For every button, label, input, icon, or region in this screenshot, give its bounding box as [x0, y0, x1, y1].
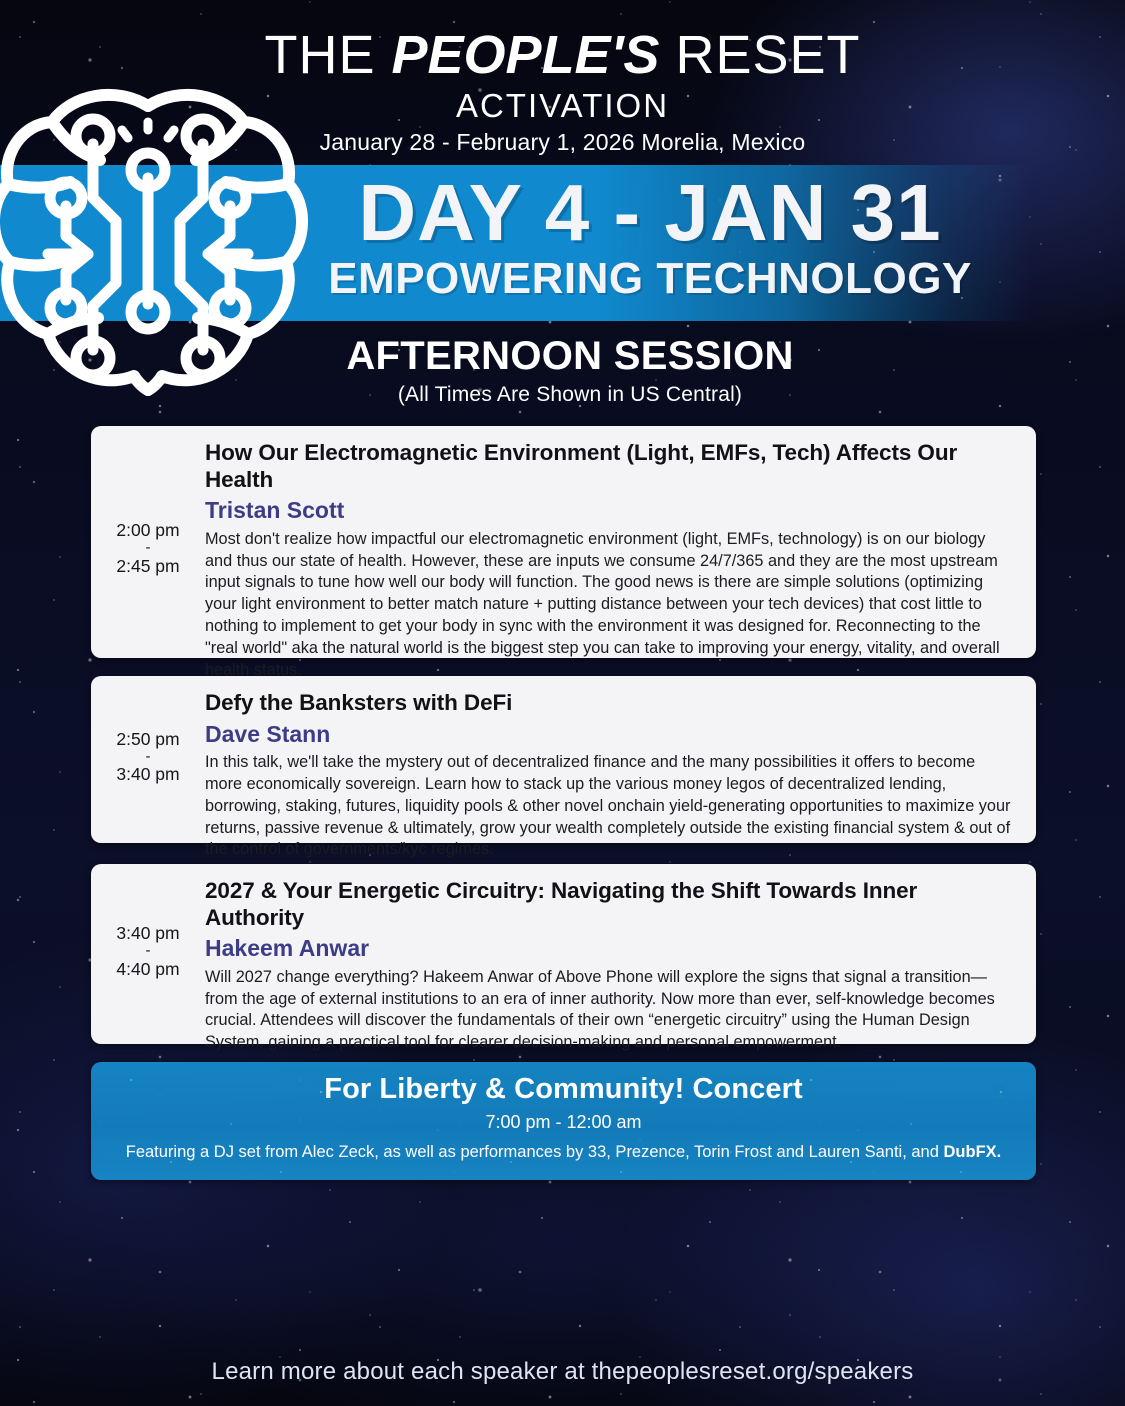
brand-title-suffix: RESET — [659, 25, 860, 85]
session-title-text: How Our Electromagnetic Environment (Lig… — [205, 440, 1014, 493]
session-end-time: 2:45 pm — [116, 556, 179, 578]
concert-time: 7:00 pm - 12:00 am — [91, 1112, 1036, 1133]
session-time-dash: - — [146, 752, 151, 763]
day-theme-label: EMPOWERING TECHNOLOGY — [300, 256, 1000, 302]
brand-title: THE PEOPLE'S RESET — [0, 28, 1125, 82]
session-card[interactable]: 2:00 pm - 2:45 pm How Our Electromagneti… — [91, 426, 1036, 658]
brand-title-prefix: THE — [265, 25, 392, 85]
poster-root: THE PEOPLE'S RESET ACTIVATION January 28… — [0, 0, 1125, 1406]
session-title-text: Defy the Banksters with DeFi — [205, 690, 1014, 717]
session-body: Defy the Banksters with DeFi Dave Stann … — [205, 676, 1036, 843]
concert-content: For Liberty & Community! Concert 7:00 pm… — [91, 1062, 1036, 1163]
concert-headliner: DubFX. — [944, 1143, 1002, 1161]
session-card[interactable]: 2:50 pm - 3:40 pm Defy the Banksters wit… — [91, 676, 1036, 843]
session-time: 2:50 pm - 3:40 pm — [91, 676, 205, 843]
session-card[interactable]: 3:40 pm - 4:40 pm 2027 & Your Energetic … — [91, 864, 1036, 1044]
brain-circuit-icon — [0, 78, 308, 408]
session-description: In this talk, we'll take the mystery out… — [205, 752, 1014, 861]
session-body: 2027 & Your Energetic Circuitry: Navigat… — [205, 864, 1036, 1044]
footer-note: Learn more about each speaker at thepeop… — [0, 1358, 1125, 1386]
concert-banner[interactable]: For Liberty & Community! Concert 7:00 pm… — [91, 1062, 1036, 1180]
session-end-time: 4:40 pm — [116, 959, 179, 981]
session-description: Will 2027 change everything? Hakeem Anwa… — [205, 967, 1014, 1054]
session-end-time: 3:40 pm — [116, 764, 179, 786]
brand-title-emphasis: PEOPLE'S — [392, 25, 660, 85]
concert-description-text: Featuring a DJ set from Alec Zeck, as we… — [126, 1143, 944, 1161]
session-description: Most don't realize how impactful our ele… — [205, 529, 1014, 682]
session-body: How Our Electromagnetic Environment (Lig… — [205, 426, 1036, 658]
session-speaker-name: Tristan Scott — [205, 497, 1014, 525]
session-speaker-name: Hakeem Anwar — [205, 935, 1014, 963]
session-time-dash: - — [146, 543, 151, 554]
concert-description: Featuring a DJ set from Alec Zeck, as we… — [91, 1142, 1036, 1163]
poster-header: THE PEOPLE'S RESET ACTIVATION January 28… — [0, 0, 1125, 420]
session-speaker-name: Dave Stann — [205, 721, 1014, 749]
session-time-dash: - — [146, 946, 151, 957]
concert-title: For Liberty & Community! Concert — [91, 1074, 1036, 1106]
session-time: 3:40 pm - 4:40 pm — [91, 864, 205, 1044]
session-title-text: 2027 & Your Energetic Circuitry: Navigat… — [205, 878, 1014, 931]
session-time: 2:00 pm - 2:45 pm — [91, 426, 205, 658]
day-banner-text: DAY 4 - JAN 31 EMPOWERING TECHNOLOGY — [300, 172, 1000, 302]
day-label: DAY 4 - JAN 31 — [300, 172, 1000, 254]
